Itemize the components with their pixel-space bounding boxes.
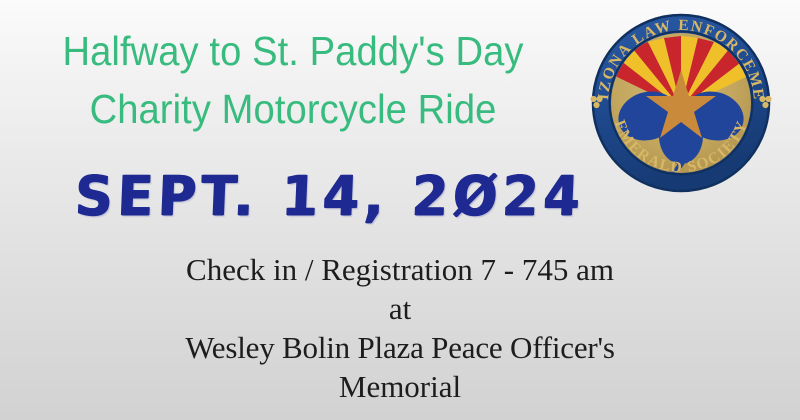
detail-venue-line-2: Memorial <box>0 367 800 406</box>
event-details: Check in / Registration 7 - 745 am at We… <box>0 250 800 415</box>
detail-cutoff-line: — <box>0 406 800 415</box>
emerald-society-badge-icon: ARIZONA LAW ENFORCEMENT EMERALD SOCIETY <box>586 8 776 198</box>
event-date: SEPT. 14, 2Ø24 <box>0 166 661 227</box>
page-title: Halfway to St. Paddy's Day Charity Motor… <box>21 22 566 138</box>
flyer-canvas: Halfway to St. Paddy's Day Charity Motor… <box>0 0 800 420</box>
detail-checkin: Check in / Registration 7 - 745 am <box>0 250 800 289</box>
title-line-1: Halfway to St. Paddy's Day <box>21 22 566 80</box>
detail-venue-line-1: Wesley Bolin Plaza Peace Officer's <box>0 328 800 367</box>
title-line-2: Charity Motorcycle Ride <box>21 80 566 138</box>
emerald-society-logo: ARIZONA LAW ENFORCEMENT EMERALD SOCIETY <box>586 8 776 198</box>
detail-at: at <box>0 289 800 328</box>
